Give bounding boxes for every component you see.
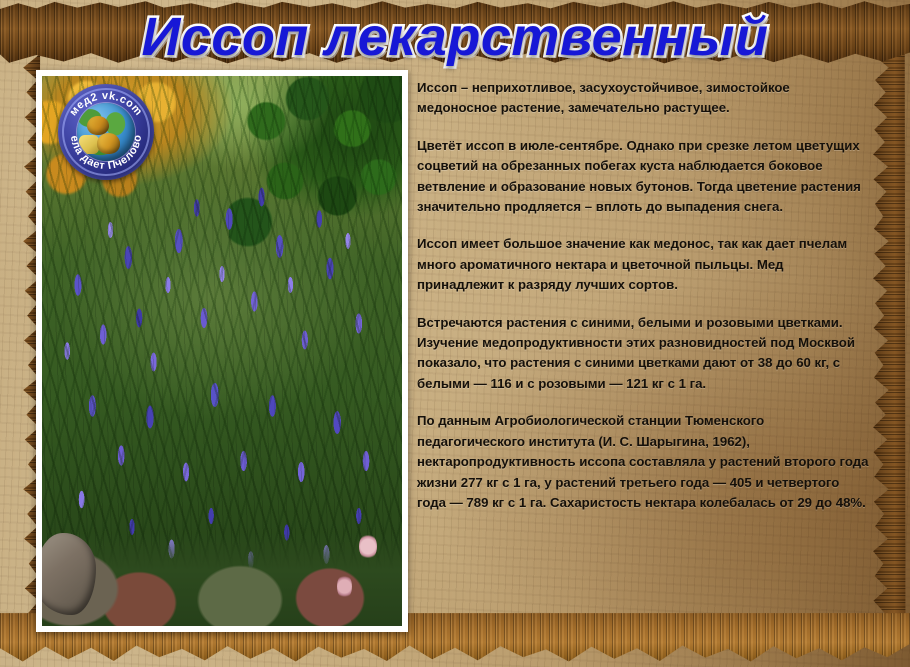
- paragraph: Иссоп – неприхотливое, засухоустойчивое,…: [417, 78, 869, 119]
- garden-stone: [42, 533, 96, 616]
- hyssop-plant-photo: мед2 vk.com Пчела дает Пчеловоду: [42, 76, 402, 626]
- pink-flower-accent: [359, 533, 377, 561]
- poster-canvas: Иссоп лекарственный: [0, 0, 910, 667]
- paragraph: Иссоп имеет большое значение как медонос…: [417, 234, 869, 295]
- bee-icon: [97, 133, 120, 154]
- paragraph: Цветёт иссоп в июле-сентябре. Однако при…: [417, 136, 869, 218]
- hyssop-photo-frame: мед2 vk.com Пчела дает Пчеловоду: [36, 70, 408, 632]
- pink-flower-accent: [337, 574, 351, 599]
- article-text-column: Иссоп – неприхотливое, засухоустойчивое,…: [417, 78, 869, 513]
- paragraph: По данным Агробиологической станции Тюме…: [417, 411, 869, 513]
- watermark-badge: мед2 vk.com Пчела дает Пчеловоду: [58, 84, 154, 180]
- globe-icon: [77, 103, 135, 161]
- paragraph: Встречаются растения с синими, белыми и …: [417, 313, 869, 395]
- page-title: Иссоп лекарственный: [0, 6, 910, 68]
